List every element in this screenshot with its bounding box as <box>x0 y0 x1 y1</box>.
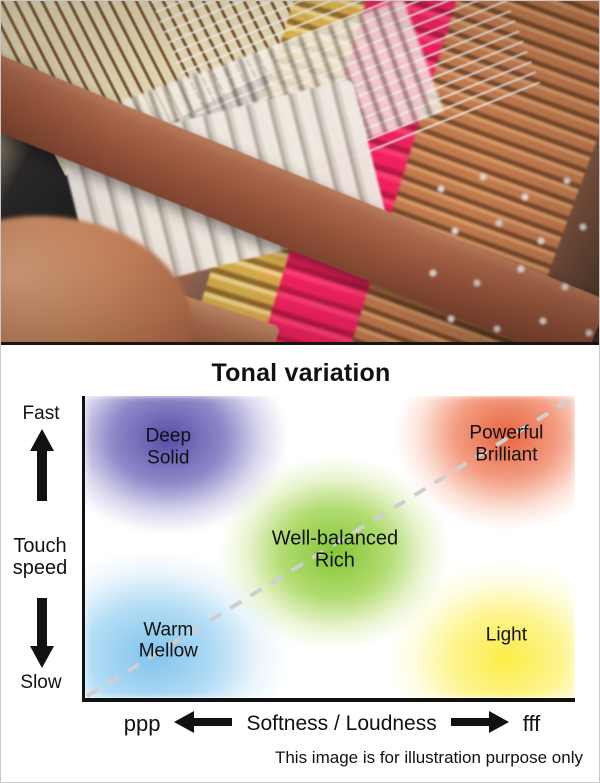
photo-brass-tuning-pins <box>180 1 370 345</box>
x-axis-left-label: ppp <box>124 711 161 737</box>
y-axis-title: Touch speed <box>1 535 79 580</box>
blob-label-light: Light <box>486 624 527 645</box>
arrow-right-icon <box>451 711 509 738</box>
photo-agraffe-dots <box>421 171 600 345</box>
arrow-down-icon <box>30 598 54 673</box>
blob-label-well-balanced-rich: Well-balanced Rich <box>272 528 398 573</box>
blob-label-warm-mellow: Warm Mellow <box>139 619 198 662</box>
photo-vignette <box>1 1 600 345</box>
photo-damper-stripes-dark <box>11 1 396 239</box>
illustration-disclaimer: This image is for illustration purpose o… <box>1 748 583 768</box>
photo-steel-strings <box>151 1 543 214</box>
y-axis-top-label: Fast <box>5 403 77 425</box>
photo-ivory-stripes <box>1 1 359 176</box>
x-axis-right-label: fff <box>523 711 541 737</box>
photo-hammer-felt-row <box>61 78 388 296</box>
tonal-variation-chart-panel: Tonal variation Fast Touch speed Slow De… <box>1 345 600 783</box>
x-axis-row: ppp Softness / Loudness fff <box>82 710 582 738</box>
arrow-up-icon <box>30 429 54 506</box>
blob-label-deep-solid: Deep Solid <box>146 426 191 469</box>
photo-background-layer <box>1 1 600 345</box>
arrow-left-icon <box>174 711 232 738</box>
photo-wooden-rail-lower <box>1 197 280 345</box>
piano-interior-photo <box>1 1 600 345</box>
tonal-variation-plot-area: Deep Solid Powerful Brilliant Well-balan… <box>82 396 575 702</box>
x-axis-title: Softness / Loudness <box>246 712 436 736</box>
page-root: Tonal variation Fast Touch speed Slow De… <box>0 0 600 783</box>
photo-copper-foreground <box>1 216 191 345</box>
photo-wooden-rail <box>1 31 600 345</box>
y-axis-bottom-label: Slow <box>5 672 77 694</box>
page-title: Tonal variation <box>1 359 600 388</box>
photo-red-felt-strip <box>221 1 464 345</box>
blob-label-powerful-brilliant: Powerful Brilliant <box>469 423 543 466</box>
photo-copper-strings <box>231 1 600 345</box>
photo-hammer-row-far <box>121 1 444 214</box>
